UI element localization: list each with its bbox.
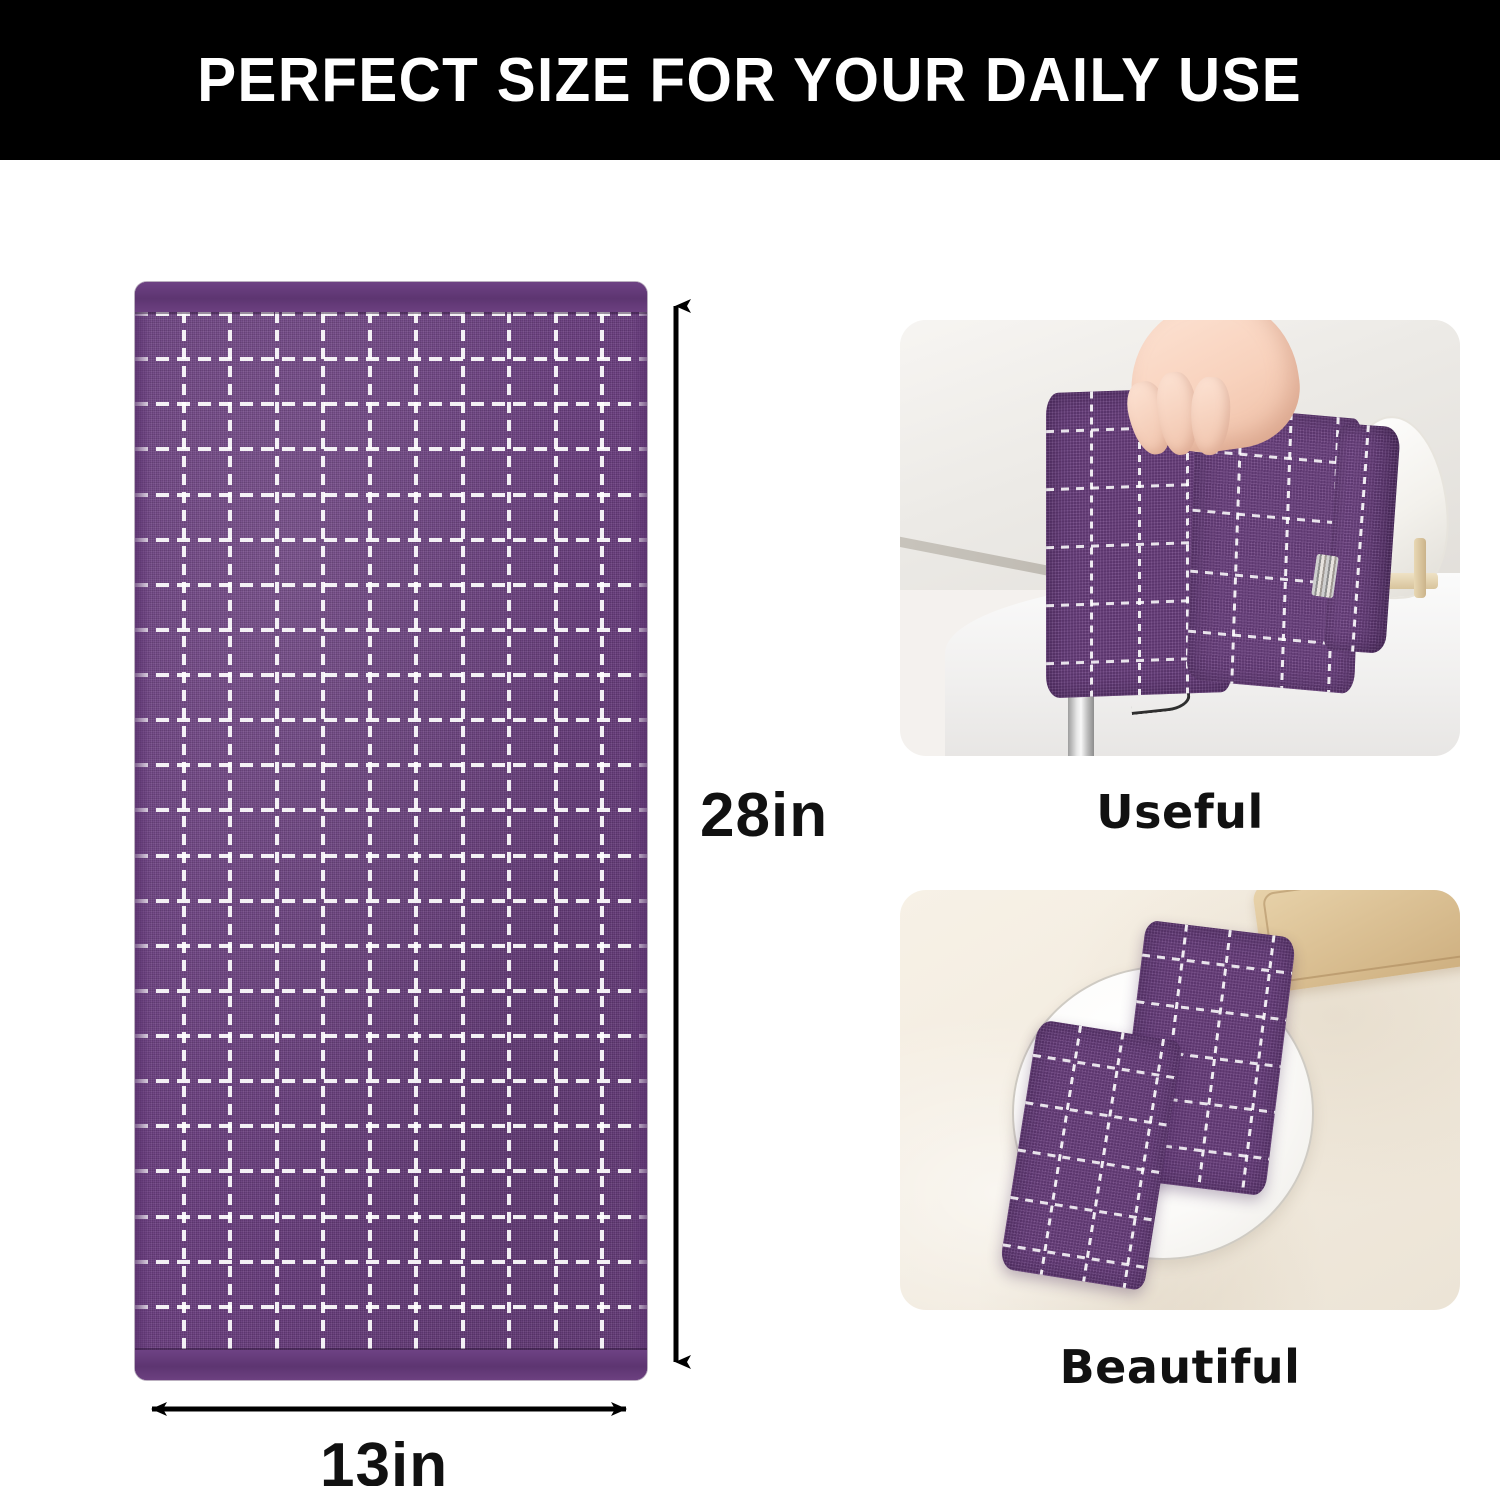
towel-bottom-hem (135, 1350, 647, 1380)
towel-product-image (135, 282, 647, 1380)
towel-grid-hline (135, 1215, 647, 1219)
towel-grid-hline (135, 402, 647, 406)
towel-grid-vline (368, 312, 372, 1350)
towel-grid-hline (135, 763, 647, 767)
towel-grid-hline (135, 312, 647, 316)
width-dimension-label: 13in (320, 1430, 448, 1486)
towel-grid-hline (135, 854, 647, 858)
photo-card-beautiful (900, 890, 1460, 1310)
towel-grid-vline (228, 312, 232, 1350)
towel-grid-vline (600, 312, 604, 1350)
towel-grid-hline (135, 673, 647, 677)
towel-grid-hline (135, 493, 647, 497)
towel-grid-hline (135, 538, 647, 542)
towel-grid-hline (135, 944, 647, 948)
caption-beautiful: Beautiful (900, 1340, 1460, 1394)
towel-grid-hline (135, 583, 647, 587)
towel-grid-hline (135, 989, 647, 993)
towel-grid-vline (321, 312, 325, 1350)
towel-left-selvedge (135, 282, 149, 1380)
towel-grid-hline (135, 357, 647, 361)
photo-column: Useful (880, 160, 1500, 1486)
header-banner: PERFECT SIZE FOR YOUR DAILY USE (0, 0, 1500, 160)
photo-card-useful (900, 320, 1460, 756)
dish-rack-peg-right (1414, 538, 1426, 598)
caption-useful: Useful (900, 785, 1460, 839)
towel-grid-vline (461, 312, 465, 1350)
towel-grid-hline (135, 1305, 647, 1309)
towel-grid-hline (135, 899, 647, 903)
towel-dimension-panel: 28in 13in (0, 160, 880, 1486)
towel-grid-hline (135, 447, 647, 451)
towel-grid-vline (182, 312, 186, 1350)
towel-grid-hline (135, 718, 647, 722)
towel-grid-hline (135, 808, 647, 812)
towel-grid-hline (135, 1124, 647, 1128)
towel-grid-hline (135, 1169, 647, 1173)
towel-grid-vline (507, 312, 511, 1350)
banner-title: PERFECT SIZE FOR YOUR DAILY USE (198, 45, 1303, 116)
towel-check-grid (135, 312, 647, 1350)
kitchen-sink-scene (900, 320, 1460, 756)
towel-grid-vline (275, 312, 279, 1350)
towel-top-hem (135, 282, 647, 312)
towel-grid-hline (135, 1260, 647, 1264)
towel-grid-vline (554, 312, 558, 1350)
towel-grid-hline (135, 628, 647, 632)
towel-grid-vline (414, 312, 418, 1350)
towel-right-selvedge (633, 282, 647, 1380)
towel-grid-hline (135, 1034, 647, 1038)
towel-grid-hline (135, 1079, 647, 1083)
height-dimension-label: 28in (700, 780, 828, 851)
countertop-scene (900, 890, 1460, 1310)
product-infographic: PERFECT SIZE FOR YOUR DAILY USE (0, 0, 1500, 1486)
